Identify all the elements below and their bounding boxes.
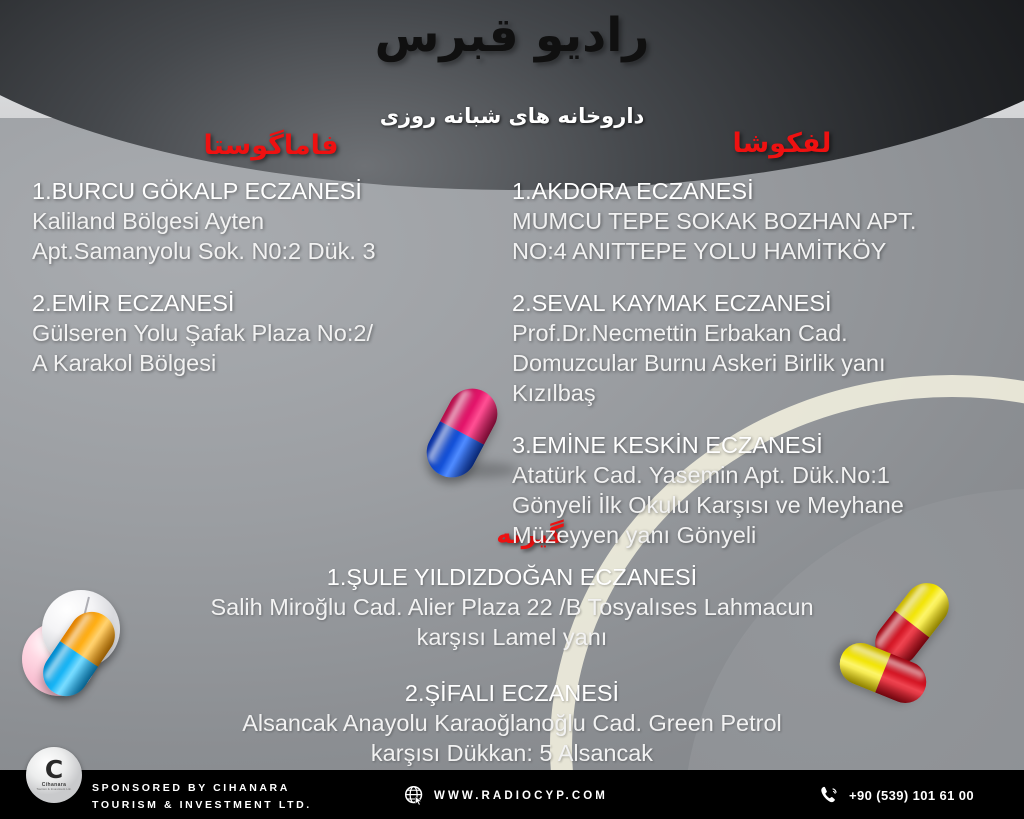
logo-mark: C xyxy=(45,759,63,781)
pharmacy-name: 2.SEVAL KAYMAK ECZANESİ xyxy=(512,288,1012,318)
pharmacy-address: Kaliland Bölgesi Ayten Apt.Samanyolu Sok… xyxy=(32,206,484,266)
page-subtitle: داروخانه های شبانه روزی xyxy=(0,104,1024,128)
website-link[interactable]: WWW.RADIOCYP.COM xyxy=(404,785,608,806)
list-item: 2.ŞİFALI ECZANESİ Alsancak Anayolu Karao… xyxy=(60,678,964,768)
list-item: 2.SEVAL KAYMAK ECZANESİ Prof.Dr.Necmetti… xyxy=(512,288,1012,408)
pharmacy-address: Atatürk Cad. Yasemin Apt. Dük.No:1 Gönye… xyxy=(512,460,1012,550)
pharmacy-list-famagusta: 1.BURCU GÖKALP ECZANESİ Kaliland Bölgesi… xyxy=(32,176,484,378)
pharmacy-name: 3.EMİNE KESKİN ECZANESİ xyxy=(512,430,1012,460)
pharmacy-address: Prof.Dr.Necmettin Erbakan Cad. Domuzcula… xyxy=(512,318,1012,408)
sponsor-logo: C Cihanara Tourism & Investment Ltd. xyxy=(26,747,82,803)
pharmacy-name: 1.AKDORA ECZANESİ xyxy=(512,176,1012,206)
list-item: 1.ŞULE YILDIZDOĞAN ECZANESİ Salih Miroğl… xyxy=(60,562,964,652)
footer-bar: SPONSORED BY CIHANARA TOURISM & INVESTME… xyxy=(0,770,1024,819)
pharmacy-name: 2.EMİR ECZANESİ xyxy=(32,288,484,318)
logo-subtitle: Tourism & Investment Ltd. xyxy=(37,788,72,791)
list-item: 2.EMİR ECZANESİ Gülseren Yolu Şafak Plaz… xyxy=(32,288,484,378)
city-heading-lefkosa: لفکوشا xyxy=(692,128,872,159)
pharmacy-list-lefkosa: 1.AKDORA ECZANESİ MUMCU TEPE SOKAK BOZHA… xyxy=(512,176,1012,550)
pharmacy-name: 1.ŞULE YILDIZDOĞAN ECZANESİ xyxy=(60,562,964,592)
poster-canvas: رادیو قبرس داروخانه های شبانه روزی فاماگ… xyxy=(0,0,1024,819)
list-item: 1.BURCU GÖKALP ECZANESİ Kaliland Bölgesi… xyxy=(32,176,484,266)
pharmacy-address: Salih Miroğlu Cad. Alier Plaza 22 /B Tos… xyxy=(60,592,964,652)
pills-cluster-bottom-left xyxy=(10,580,160,700)
pharmacy-name: 1.BURCU GÖKALP ECZANESİ xyxy=(32,176,484,206)
phone-number: +90 (539) 101 61 00 xyxy=(849,788,974,803)
capsule-pink-blue-icon xyxy=(437,386,487,480)
list-item: 1.AKDORA ECZANESİ MUMCU TEPE SOKAK BOZHA… xyxy=(512,176,1012,266)
sponsor-line-2: TOURISM & INVESTMENT LTD. xyxy=(92,797,312,814)
phone-contact[interactable]: +90 (539) 101 61 00 xyxy=(818,784,974,806)
pharmacy-name: 2.ŞİFALI ECZANESİ xyxy=(60,678,964,708)
pharmacy-list-girne: 1.ŞULE YILDIZDOĞAN ECZANESİ Salih Miroğl… xyxy=(60,562,964,794)
sponsor-line-1: SPONSORED BY CIHANARA xyxy=(92,780,312,797)
pharmacy-address: Gülseren Yolu Şafak Plaza No:2/ A Karako… xyxy=(32,318,484,378)
capsule-red-yellow-icon xyxy=(862,628,904,718)
website-text: WWW.RADIOCYP.COM xyxy=(434,790,608,802)
pharmacy-address: MUMCU TEPE SOKAK BOZHAN APT. NO:4 ANITTE… xyxy=(512,206,1012,266)
globe-icon xyxy=(404,785,425,806)
phone-icon xyxy=(818,784,840,806)
page-title: رادیو قبرس xyxy=(0,8,1024,63)
list-item: 3.EMİNE KESKİN ECZANESİ Atatürk Cad. Yas… xyxy=(512,430,1012,550)
sponsor-text: SPONSORED BY CIHANARA TOURISM & INVESTME… xyxy=(92,780,312,814)
city-heading-famagusta: فاماگوستا xyxy=(176,130,366,161)
pharmacy-address: Alsancak Anayolu Karaoğlanoğlu Cad. Gree… xyxy=(60,708,964,768)
